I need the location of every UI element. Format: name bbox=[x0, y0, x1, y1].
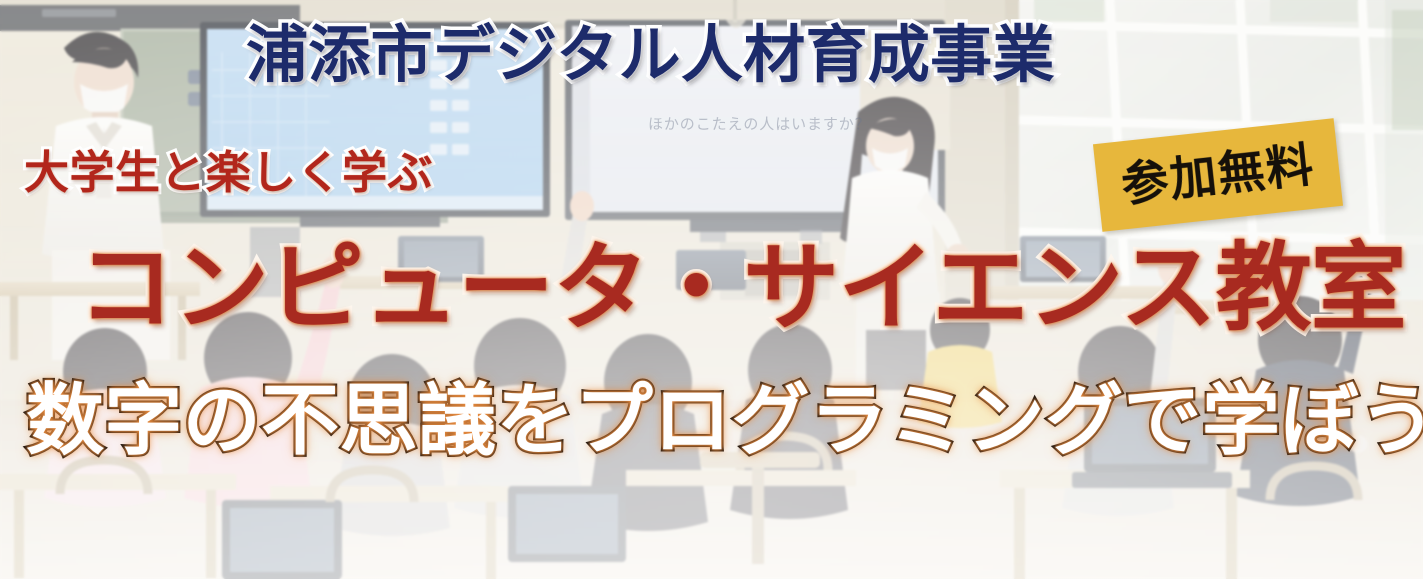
poster-banner: ほかのこたえの人はいますか？ 浦添市デジタル人材育成事業 大学生と楽しく学ぶ コ… bbox=[0, 0, 1423, 579]
program-name-heading: 浦添市デジタル人材育成事業 bbox=[246, 24, 1055, 86]
projector-screen-question: ほかのこたえの人はいますか？ bbox=[648, 113, 871, 134]
main-title: コンピュータ・サイエンス教室 bbox=[78, 240, 1406, 336]
sub-headline: 大学生と楽しく学ぶ bbox=[24, 150, 433, 195]
free-participation-badge-label: 参加無料 bbox=[1119, 141, 1317, 209]
tagline: 数字の不思議をプログラミングで学ぼう！ bbox=[26, 382, 1423, 460]
